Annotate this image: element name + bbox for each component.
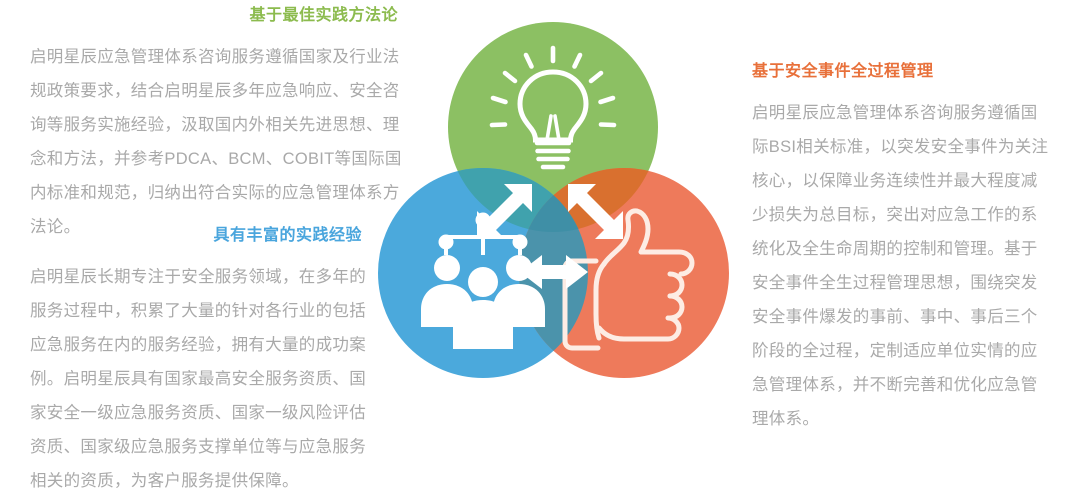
- methodology-text-block: 基于最佳实践方法论 启明星辰应急管理体系咨询服务遵循国家及行业法规政策要求，结合…: [30, 6, 402, 244]
- methodology-paragraph: 启明星辰应急管理体系咨询服务遵循国家及行业法规政策要求，结合启明星辰多年应急响应…: [30, 40, 402, 244]
- experience-heading: 具有丰富的实践经验: [30, 226, 370, 246]
- infographic-canvas: 基于最佳实践方法论 启明星辰应急管理体系咨询服务遵循国家及行业法规政策要求，结合…: [0, 0, 1080, 499]
- experience-text-block: 具有丰富的实践经验 启明星辰长期专注于安全服务领域，在多年的服务过程中，积累了大…: [30, 226, 370, 498]
- lifecycle-heading: 基于安全事件全过程管理: [752, 62, 1052, 82]
- experience-paragraph: 启明星辰长期专注于安全服务领域，在多年的服务过程中，积累了大量的针对各行业的包括…: [30, 260, 370, 498]
- lifecycle-paragraph: 启明星辰应急管理体系咨询服务遵循国际BSI相关标准，以突发安全事件为关注核心，以…: [752, 96, 1052, 436]
- methodology-heading: 基于最佳实践方法论: [30, 6, 402, 26]
- venn-diagram: [372, 12, 740, 392]
- lifecycle-text-block: 基于安全事件全过程管理 启明星辰应急管理体系咨询服务遵循国际BSI相关标准，以突…: [752, 62, 1052, 436]
